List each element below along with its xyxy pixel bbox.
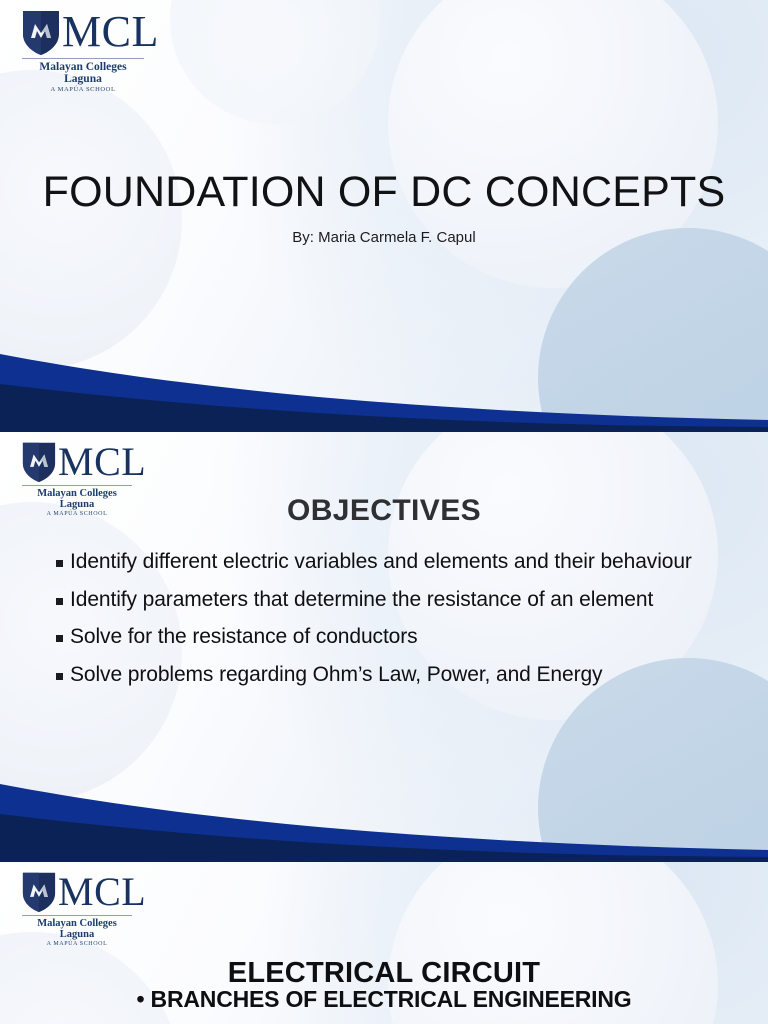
bullet-square-icon bbox=[56, 673, 63, 680]
slide-title-heading: FOUNDATION OF DC CONCEPTS bbox=[0, 168, 768, 217]
decorative-circle-top bbox=[170, 0, 380, 124]
logo-tagline: A MAPÚA SCHOOL bbox=[22, 86, 144, 93]
bullet-square-icon bbox=[56, 598, 63, 605]
electrical-circuit-subheading: • BRANCHES OF ELECTRICAL ENGINEERING bbox=[0, 986, 768, 1013]
logo-divider bbox=[22, 58, 144, 59]
list-item: Identify parameters that determine the r… bbox=[56, 586, 712, 614]
shield-icon bbox=[22, 870, 56, 913]
mcl-logo: MCL Malayan Colleges Laguna A MAPÚA SCHO… bbox=[22, 8, 159, 93]
footer-wave-decoration bbox=[0, 328, 768, 432]
bullet-square-icon bbox=[56, 635, 63, 642]
presentation-deck: MCL Malayan Colleges Laguna A MAPÚA SCHO… bbox=[0, 0, 768, 1024]
logo-wordmark: MCL bbox=[58, 872, 146, 912]
mcl-logo: MCL Malayan Colleges Laguna A MAPÚA SCHO… bbox=[22, 870, 146, 948]
shield-icon bbox=[22, 8, 60, 56]
logo-divider bbox=[22, 485, 132, 486]
logo-wordmark: MCL bbox=[58, 442, 146, 482]
objectives-list: Identify different electric variables an… bbox=[56, 548, 712, 699]
decorative-circle-left bbox=[0, 70, 182, 370]
list-item-label: Solve for the resistance of conductors bbox=[70, 623, 418, 651]
list-item: Solve for the resistance of conductors bbox=[56, 623, 712, 651]
footer-wave-decoration bbox=[0, 758, 768, 862]
logo-row: MCL bbox=[22, 440, 146, 483]
list-item-label: Solve problems regarding Ohm’s Law, Powe… bbox=[70, 661, 602, 689]
logo-row: MCL bbox=[22, 8, 159, 56]
slide-objectives[interactable]: MCL Malayan Colleges Laguna A MAPÚA SCHO… bbox=[0, 432, 768, 862]
bullet-square-icon bbox=[56, 560, 63, 567]
logo-institution: Malayan Colleges Laguna bbox=[22, 61, 144, 85]
shield-icon bbox=[22, 440, 56, 483]
slide-electrical-circuit[interactable]: MCL Malayan Colleges Laguna A MAPÚA SCHO… bbox=[0, 862, 768, 1024]
list-item: Solve problems regarding Ohm’s Law, Powe… bbox=[56, 661, 712, 689]
logo-row: MCL bbox=[22, 870, 146, 913]
logo-tagline: A MAPÚA SCHOOL bbox=[22, 941, 132, 948]
logo-divider bbox=[22, 915, 132, 916]
slide-title[interactable]: MCL Malayan Colleges Laguna A MAPÚA SCHO… bbox=[0, 0, 768, 432]
objectives-heading: OBJECTIVES bbox=[0, 494, 768, 528]
list-item-label: Identify different electric variables an… bbox=[70, 548, 692, 576]
list-item-label: Identify parameters that determine the r… bbox=[70, 586, 653, 614]
slide-title-author: By: Maria Carmela F. Capul bbox=[0, 229, 768, 246]
logo-wordmark: MCL bbox=[62, 10, 159, 54]
list-item: Identify different electric variables an… bbox=[56, 548, 712, 576]
logo-institution: Malayan Colleges Laguna bbox=[22, 918, 132, 940]
